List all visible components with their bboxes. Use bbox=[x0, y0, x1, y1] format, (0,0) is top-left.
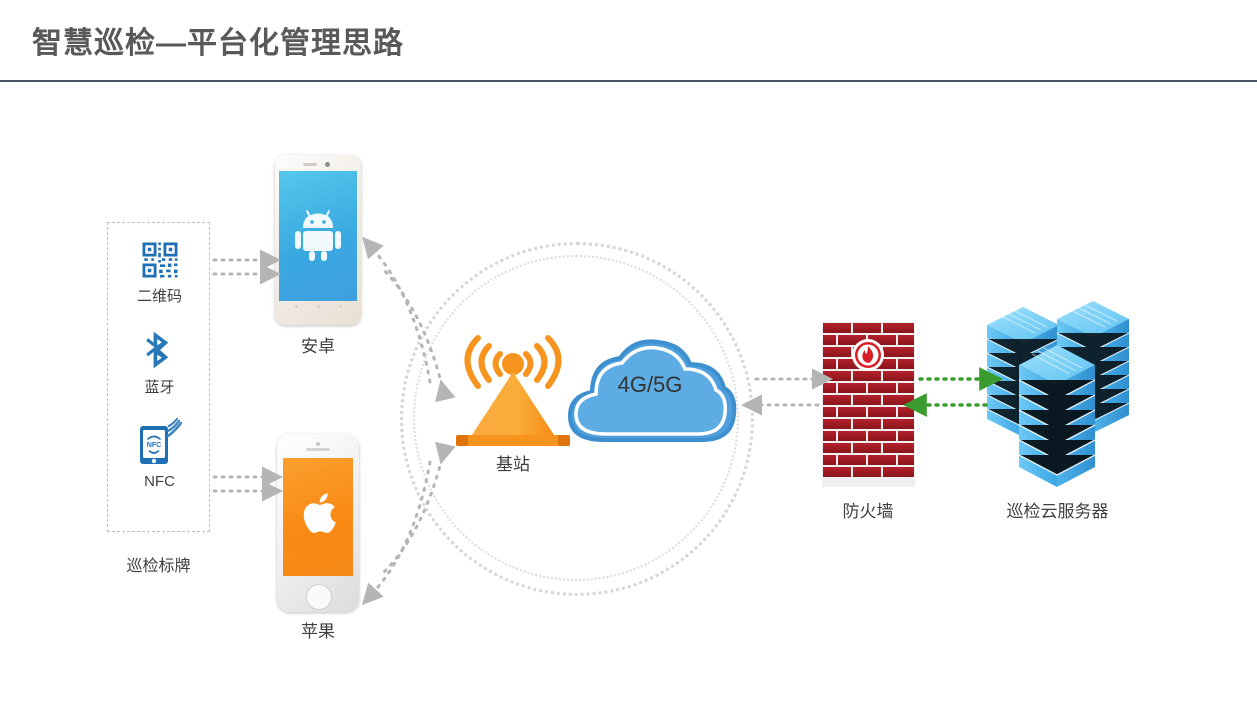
diagram-canvas: 二维码 蓝牙 NFC bbox=[0, 82, 1257, 706]
page-header: 智慧巡检—平台化管理思路 bbox=[0, 0, 1257, 82]
connector-iphone-to-network bbox=[372, 450, 444, 594]
connector-tags-to-iphone bbox=[214, 477, 268, 491]
connector-layer bbox=[0, 82, 1257, 706]
connector-network-to-firewall bbox=[756, 379, 818, 405]
connector-firewall-to-servers bbox=[920, 379, 986, 405]
connector-tags-to-android bbox=[214, 260, 266, 274]
connector-android-to-network bbox=[372, 248, 444, 394]
page-title: 智慧巡检—平台化管理思路 bbox=[32, 18, 404, 62]
